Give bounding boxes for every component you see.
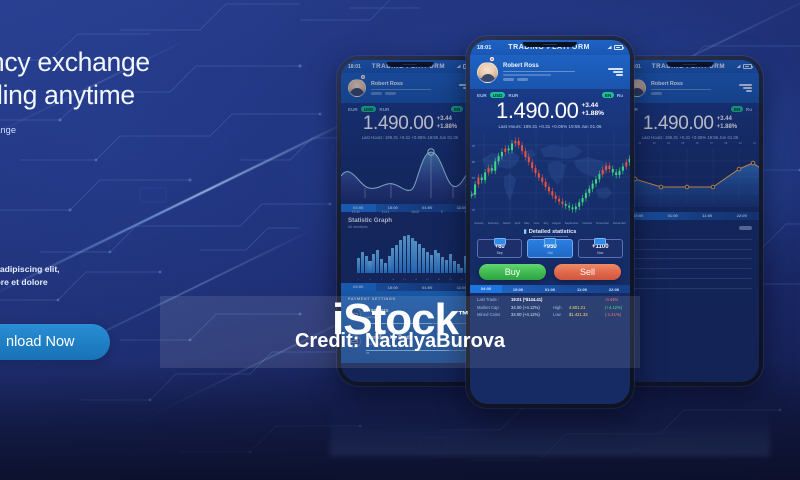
- candle-body: [625, 162, 627, 166]
- profile-bar[interactable]: Robert Ross: [470, 55, 630, 89]
- bar: [418, 244, 421, 274]
- time-tick[interactable]: 11:00: [566, 287, 598, 292]
- candle-body: [565, 204, 567, 206]
- profile-meta: Robert Ross: [371, 81, 454, 96]
- candle-body: [498, 156, 500, 161]
- time-tick[interactable]: 15:00: [376, 285, 411, 290]
- time-tick-active[interactable]: 04:00: [470, 285, 502, 293]
- currency-row: EUR USD RUR EN Ru: [341, 103, 479, 113]
- language-ru[interactable]: Ru: [617, 93, 623, 98]
- quote-delta-pct: +1.88%: [581, 110, 604, 118]
- candle-body: [602, 170, 604, 174]
- status-time: 18:01: [348, 64, 361, 70]
- bar-label: [388, 279, 391, 281]
- lorem-line-2: didunt ut labore et dolore: [0, 276, 284, 288]
- sell-button[interactable]: Sell: [554, 264, 621, 280]
- language-ru[interactable]: Ru: [746, 107, 752, 112]
- quote-delta-abs: +3.44: [717, 116, 738, 123]
- candle-body: [521, 145, 523, 151]
- bar: [434, 250, 437, 273]
- bar-chart-bars: [357, 233, 471, 273]
- stat-card-value: +60: [480, 244, 519, 250]
- area-chart-ticks: 12:42 11:11 18:02 9 16: [341, 209, 479, 214]
- headline-line-2: , trading anytime: [0, 81, 284, 111]
- quote-delta: +3.44 +1.88%: [717, 114, 738, 131]
- bar-label: 10: [391, 279, 394, 281]
- stat-card-value: +1100: [581, 244, 620, 250]
- profile-chip: [385, 92, 396, 95]
- promo-subcopy: ons for exchange: [0, 125, 284, 135]
- mini-pill-icon: [739, 226, 752, 230]
- profile-chip: [503, 78, 514, 81]
- quote-delta-pct: +1.88%: [717, 124, 738, 131]
- line-chart: 01 02 03 04 05 06 07 08 09 10: [621, 142, 759, 212]
- statistic-graph-subtitle: All mentions: [348, 225, 472, 229]
- candle-body: [538, 173, 540, 177]
- bar: [430, 255, 433, 273]
- currency-rur[interactable]: RUR: [379, 107, 389, 112]
- bar-label: [395, 279, 398, 281]
- trading-board: EUR USD RUR EN Ru 1.490.00 +3.44 +1.: [470, 89, 630, 326]
- profile-name: Robert Ross: [503, 63, 603, 69]
- bar-label: 25: [449, 279, 452, 281]
- stat-card-label: Sep: [480, 251, 519, 255]
- month-labels: JanuaryFebruaryMarchAprilMayJuneJulyAugu…: [470, 221, 630, 225]
- quote-block: 1.490.00 +3.44 +1.88% Last Hours: 199.31…: [470, 99, 630, 129]
- profile-line: [371, 89, 431, 90]
- candle-body: [582, 198, 584, 202]
- bar-label: [457, 279, 460, 281]
- bar: [453, 261, 456, 273]
- month-label: June: [533, 221, 539, 225]
- candle-body: [585, 193, 587, 198]
- month-label: March: [503, 221, 511, 225]
- bar-label: [361, 279, 364, 281]
- bar: [414, 241, 417, 273]
- candle-body: [484, 172, 486, 180]
- quote-delta-abs: +3.44: [581, 102, 604, 110]
- candle-body: [615, 172, 617, 175]
- candle-body: [595, 179, 597, 183]
- profile-chips: [651, 92, 734, 95]
- stat-card-label: Nov: [581, 251, 620, 255]
- poster-canvas: urrency exchange , trading anytime ons f…: [0, 0, 800, 480]
- bar: [422, 248, 425, 273]
- candle-body: [514, 141, 516, 144]
- area-chart: 12:42 11:11 18:02 9 16: [341, 142, 479, 204]
- bar-label: [453, 279, 456, 281]
- time-tick[interactable]: 22:00: [725, 213, 760, 218]
- time-tick[interactable]: 01:00: [656, 213, 691, 218]
- bar-label: [441, 279, 444, 281]
- candle-body: [511, 143, 513, 150]
- bar-label: 13: [403, 279, 406, 281]
- bar-label: 28: [460, 279, 463, 281]
- area-tick: 18:02: [411, 210, 419, 214]
- bar-label: [384, 279, 387, 281]
- profile-chip: [517, 78, 528, 81]
- uiux-subtitle: Mobile App: [0, 216, 284, 227]
- stat-card-label: Oct: [530, 251, 569, 255]
- candle-body: [551, 191, 553, 195]
- candlestick-series: [470, 131, 630, 225]
- phone-notch: [523, 42, 577, 47]
- month-label: July: [543, 221, 548, 225]
- bar: [407, 235, 410, 273]
- bar: [437, 253, 440, 273]
- profile-line: [503, 74, 551, 75]
- placeholder-rows: ph: [621, 220, 759, 304]
- time-tick[interactable]: 01:00: [410, 285, 445, 290]
- profile-name: Robert Ross: [371, 81, 454, 87]
- status-time: 18:01: [477, 45, 491, 51]
- bar: [372, 254, 375, 273]
- quote-last-hours: Last Hours: 199.31 +0.31 +0.05% 19:55 Ju…: [470, 124, 630, 129]
- profile-meta: Robert Ross: [651, 81, 734, 96]
- candle-body: [508, 148, 510, 150]
- bar-label: [376, 279, 379, 281]
- promo-copy: urrency exchange , trading anytime ons f…: [0, 48, 284, 288]
- stat-card-sep[interactable]: +60 Sep: [477, 239, 522, 258]
- time-tick[interactable]: 15:00: [502, 287, 534, 292]
- area-tick: 11:11: [382, 210, 390, 214]
- month-label: February: [488, 221, 499, 225]
- candle-body: [494, 161, 496, 170]
- battery-icon: [614, 45, 623, 50]
- area-chart-svg: [341, 142, 479, 204]
- candlestick-chart: 9580 654525 JanuaryFebruaryMarchAprilMay…: [470, 131, 630, 225]
- bar: [391, 248, 394, 273]
- time-tick[interactable]: 01:00: [534, 287, 566, 292]
- quote-price: 1.490.00: [496, 100, 578, 122]
- uiux-title: I/UX: [0, 187, 284, 214]
- candle-body: [608, 165, 610, 168]
- bar: [441, 257, 444, 273]
- bar-label: [422, 279, 425, 281]
- quote-delta: +3.44 +1.88%: [437, 114, 458, 131]
- profile-meta: Robert Ross: [503, 63, 603, 81]
- lorem-line-1: , consectetur adipiscing elit,: [0, 263, 284, 275]
- placeholder-row: [628, 239, 752, 240]
- menu-icon[interactable]: [739, 84, 752, 92]
- profile-line: [503, 71, 575, 72]
- signal-icon: [456, 64, 461, 69]
- bar: [384, 263, 387, 273]
- profile-line: [651, 89, 711, 90]
- language-en[interactable]: EN: [451, 106, 463, 112]
- bar-label: [365, 279, 368, 281]
- currency-selector[interactable]: EUR USD RUR: [348, 106, 389, 112]
- month-label: November: [596, 221, 609, 225]
- candle-body: [571, 207, 573, 209]
- status-icons: [736, 64, 752, 69]
- bar-chart-axis: [348, 233, 356, 273]
- profile-chips: [371, 92, 454, 95]
- bar-label: 16: [414, 279, 417, 281]
- language-en[interactable]: EN: [731, 106, 743, 112]
- placeholder-row: [628, 258, 752, 259]
- currency-eur[interactable]: EUR: [477, 93, 487, 98]
- bar-label: [407, 279, 410, 281]
- candle-body: [541, 177, 543, 181]
- action-buttons: Buy Sell: [470, 258, 630, 285]
- candle-body: [619, 170, 621, 174]
- bar-chart: 14710131619222528: [348, 233, 472, 281]
- bar: [361, 252, 364, 273]
- phone-notch: [667, 62, 714, 67]
- currency-usd-selected[interactable]: USD: [361, 106, 377, 112]
- detailed-statistics-cards: +60 Sep +950 Oct +1100 Nov: [470, 239, 630, 258]
- notification-badge: [490, 57, 494, 61]
- candle-body: [535, 168, 537, 173]
- candle-body: [477, 177, 479, 184]
- quote-last-hours: Last Hours: 199.31 +0.31 +0.05% 19:55 Ju…: [341, 135, 479, 140]
- time-tick[interactable]: 22:00: [598, 287, 630, 292]
- placeholder-row: [628, 268, 752, 269]
- quote-price: 1.490.00: [363, 114, 434, 133]
- status-icons: [607, 45, 623, 50]
- bar: [380, 259, 383, 273]
- title-underline: [532, 236, 568, 237]
- month-label: August: [552, 221, 561, 225]
- area-tick: 12:42: [352, 210, 360, 214]
- placeholder-row: [628, 278, 752, 279]
- bar-label: [418, 279, 421, 281]
- avatar[interactable]: [477, 62, 498, 83]
- month-label: December: [613, 221, 626, 225]
- candle-body: [501, 152, 503, 156]
- stat-card-oct[interactable]: +950 Oct: [527, 239, 572, 258]
- quote-block: 1.490.00 +3.44 +1.88% Last Hours: 199.31…: [341, 113, 479, 140]
- bar-label: 1: [357, 279, 360, 281]
- battery-icon: [743, 64, 752, 69]
- detailed-statistics-title: ▮Detailed statistics: [470, 225, 630, 236]
- bar-label: [445, 279, 448, 281]
- quote-delta: +3.44 +1.88%: [581, 100, 604, 118]
- time-tick[interactable]: 11:00: [690, 213, 725, 218]
- bar: [395, 245, 398, 273]
- candle-body: [612, 169, 614, 172]
- candle-body: [578, 202, 580, 206]
- profile-chips: [503, 78, 603, 81]
- bar: [445, 260, 448, 274]
- bar: [388, 256, 391, 274]
- profile-bar[interactable]: Robert Ross: [341, 73, 479, 103]
- profile-chip: [651, 92, 662, 95]
- candle-body: [598, 174, 600, 179]
- bar: [460, 268, 463, 273]
- quote-last-hours: Last Hours: 199.31 +0.31 +0.05% 19:55 Ju…: [621, 135, 759, 140]
- month-label: January: [474, 221, 484, 225]
- menu-icon[interactable]: [608, 68, 623, 76]
- bar: [403, 236, 406, 273]
- time-scale-bottom[interactable]: 04:00 15:00 01:00 11:00: [341, 283, 479, 291]
- month-label: October: [582, 221, 592, 225]
- candle-body: [531, 162, 533, 168]
- trading-board: RUR EN Ru 1.490.00 +3.44 +1.88%: [621, 103, 759, 304]
- area-tick: 9: [441, 210, 443, 214]
- candle-body: [474, 184, 476, 194]
- bar-label: [399, 279, 402, 281]
- candle-body: [588, 188, 590, 192]
- candle-body: [622, 166, 624, 170]
- month-label: May: [524, 221, 529, 225]
- placeholder-row: [628, 249, 752, 250]
- bar-label: 22: [437, 279, 440, 281]
- avatar[interactable]: [348, 79, 366, 97]
- bar-label: [430, 279, 433, 281]
- bar-label: 7: [380, 279, 383, 281]
- candle-body: [481, 177, 483, 180]
- candle-body: [518, 141, 520, 145]
- bar: [399, 240, 402, 274]
- candle-body: [575, 206, 577, 209]
- candle-body: [568, 205, 570, 207]
- bar-chart-labels: 14710131619222528: [357, 279, 471, 281]
- signal-icon: [736, 64, 741, 69]
- time-scale[interactable]: 04:00 15:00 01:00 11:00 22:00: [470, 285, 630, 293]
- bar: [426, 252, 429, 273]
- headline-line-1: urrency exchange: [0, 48, 284, 78]
- bar: [368, 261, 371, 273]
- lorem-text: , consectetur adipiscing elit, didunt ut…: [0, 263, 284, 287]
- quote-delta-pct: +1.88%: [437, 124, 458, 131]
- profile-bar[interactable]: Robert Ross: [621, 73, 759, 103]
- statistic-graph-title: Statistic Graph: [348, 217, 472, 224]
- candle-body: [545, 182, 547, 187]
- bar-label: 19: [426, 279, 429, 281]
- signal-icon: [607, 45, 612, 50]
- candle-body: [504, 148, 506, 151]
- phone-notch: [387, 62, 434, 67]
- month-label: September: [565, 221, 579, 225]
- bar: [411, 238, 414, 273]
- candle-body: [558, 199, 560, 202]
- time-scale-top[interactable]: 15:00 01:00 11:00 22:00: [621, 212, 759, 220]
- language-selector[interactable]: EN Ru: [602, 92, 623, 98]
- stat-card-value: +950: [530, 244, 569, 250]
- bar: [457, 264, 460, 273]
- bar-label: [372, 279, 375, 281]
- bar: [449, 254, 452, 273]
- profile-name: Robert Ross: [651, 81, 734, 87]
- bar: [376, 250, 379, 273]
- profile-chip: [371, 92, 382, 95]
- bar-chart-icon: ▮: [524, 229, 527, 235]
- candle-body: [629, 158, 630, 161]
- candle-body: [605, 165, 607, 169]
- currency-eur[interactable]: EUR: [348, 107, 358, 112]
- bar: [365, 256, 368, 274]
- bar-label: [434, 279, 437, 281]
- candle-body: [487, 168, 489, 172]
- bar: [357, 258, 360, 273]
- candle-body: [555, 195, 557, 198]
- line-chart-svg: [621, 145, 759, 207]
- time-tick-active[interactable]: 04:00: [341, 283, 376, 291]
- trademark-icon: ™: [458, 309, 468, 321]
- statistic-graph-section: Statistic Graph All mentions 14710131619…: [341, 212, 479, 284]
- candle-body: [471, 194, 473, 195]
- watermark-credit: Credit: NatalyaBurova: [0, 330, 800, 353]
- candle-body: [528, 157, 530, 162]
- bar-label: [411, 279, 414, 281]
- month-label: April: [515, 221, 521, 225]
- notification-badge: [361, 75, 365, 79]
- language-selector[interactable]: EN Ru: [731, 106, 752, 112]
- placeholder-row: [628, 288, 752, 289]
- quote-price: 1.490.00: [643, 114, 714, 133]
- stat-card-nov[interactable]: +1100 Nov: [578, 239, 623, 258]
- candle-body: [491, 168, 493, 171]
- candle-body: [592, 183, 594, 188]
- buy-button[interactable]: Buy: [479, 264, 546, 280]
- language-en[interactable]: EN: [602, 92, 614, 98]
- candle-body: [524, 151, 526, 157]
- candle-body: [561, 201, 563, 204]
- quote-delta-abs: +3.44: [437, 116, 458, 123]
- currency-rur[interactable]: RUR: [508, 93, 518, 98]
- quote-block: 1.490.00 +3.44 +1.88% Last Hours: 199.31…: [621, 113, 759, 140]
- candle-body: [548, 187, 550, 191]
- bar-label: 4: [368, 279, 371, 281]
- currency-row: RUR EN Ru: [621, 103, 759, 113]
